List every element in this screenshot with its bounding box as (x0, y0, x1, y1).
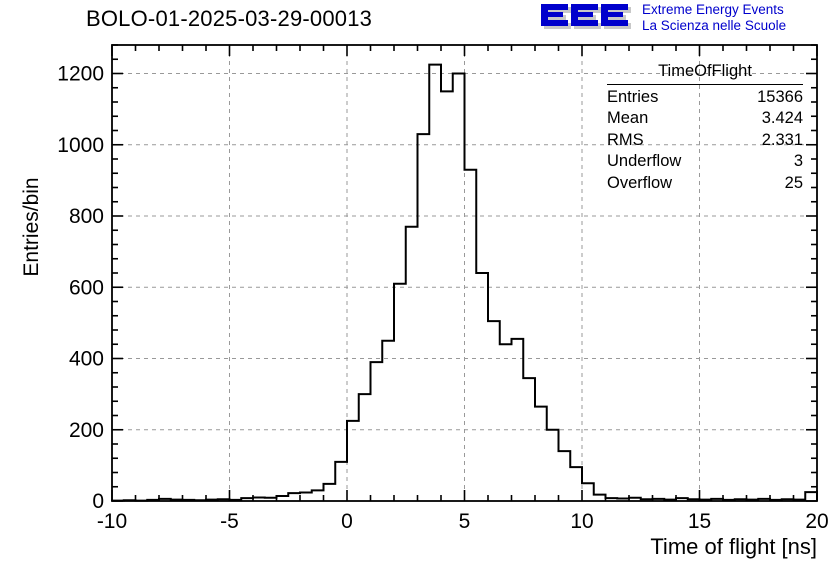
stats-row: Mean3.424 (607, 108, 803, 130)
stats-row: Overflow25 (607, 173, 803, 195)
y-tick-label: 400 (69, 348, 104, 371)
stats-row-value: 25 (785, 173, 803, 195)
y-tick-label: 1200 (57, 63, 104, 86)
y-tick-label: 0 (92, 490, 104, 513)
y-tick-label: 200 (69, 419, 104, 442)
y-tick-label: 600 (69, 276, 104, 299)
x-tick-label: -5 (220, 510, 239, 533)
stats-row: Entries15366 (607, 87, 803, 109)
x-tick-label: 5 (459, 510, 471, 533)
stats-rows: Entries15366Mean3.424RMS2.331Underflow3O… (607, 87, 803, 195)
stats-row-value: 15366 (757, 87, 803, 109)
x-tick-label: -10 (97, 510, 127, 533)
stats-box: TimeOfFlight Entries15366Mean3.424RMS2.3… (607, 61, 803, 194)
y-tick-label: 800 (69, 205, 104, 228)
stats-title: TimeOfFlight (607, 61, 803, 84)
stats-row-label: Mean (607, 108, 648, 130)
stats-row-label: Entries (607, 87, 658, 109)
x-tick-labels: -10-505101520 (97, 510, 829, 533)
y-tick-label: 1000 (57, 134, 104, 157)
stats-divider (607, 84, 803, 85)
stats-row-label: RMS (607, 130, 644, 152)
x-tick-label: 20 (805, 510, 828, 533)
x-tick-label: 10 (570, 510, 593, 533)
stats-row-label: Underflow (607, 151, 681, 173)
stats-row-label: Overflow (607, 173, 672, 195)
root-canvas: BOLO-01-2025-03-29-00013 (0, 0, 836, 572)
stats-row-value: 3 (794, 151, 803, 173)
stats-row: Underflow3 (607, 151, 803, 173)
stats-row: RMS2.331 (607, 130, 803, 152)
stats-row-value: 3.424 (762, 108, 803, 130)
x-tick-label: 0 (341, 510, 353, 533)
y-tick-labels: 020040060080010001200 (57, 63, 104, 514)
x-tick-label: 15 (688, 510, 711, 533)
stats-row-value: 2.331 (762, 130, 803, 152)
